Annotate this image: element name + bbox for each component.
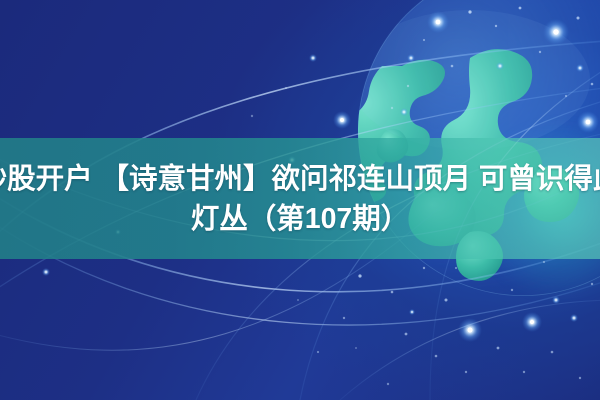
article-banner: 炒股开户 【诗意甘州】欲问祁连山顶月 可曾识得此 灯丛（第107期） (0, 0, 600, 400)
title-band: 炒股开户 【诗意甘州】欲问祁连山顶月 可曾识得此 灯丛（第107期） (0, 138, 600, 259)
title-line-1: 炒股开户 【诗意甘州】欲问祁连山顶月 可曾识得此 (0, 159, 600, 199)
title-block: 炒股开户 【诗意甘州】欲问祁连山顶月 可曾识得此 灯丛（第107期） (0, 138, 600, 259)
title-line-2: 灯丛（第107期） (191, 199, 410, 239)
